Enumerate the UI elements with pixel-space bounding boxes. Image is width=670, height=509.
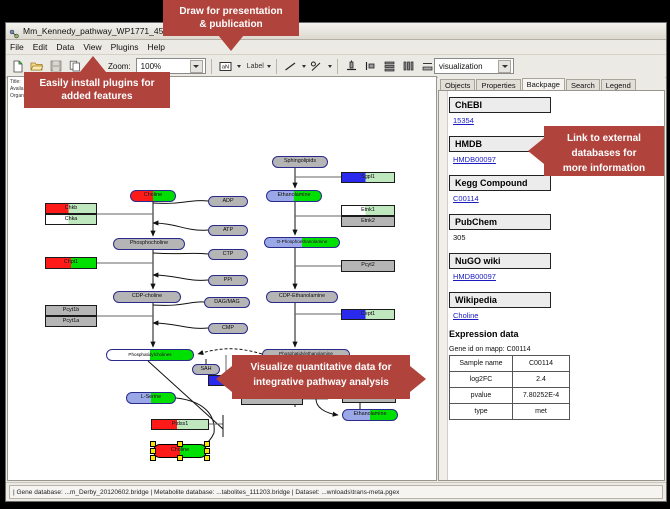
node-label: Sphingolipids	[284, 159, 316, 164]
node-label: Chka	[65, 217, 78, 222]
node-label: CDP-Ethanolamine	[279, 294, 325, 299]
selection-handle[interactable]	[177, 455, 183, 461]
node-label: CMP	[222, 326, 234, 331]
zoom-value: 100%	[141, 62, 161, 71]
toolbar-separator	[211, 59, 212, 74]
menubar: File Edit Data View Plugins Help	[6, 40, 666, 55]
callout-link-line2: databases for	[552, 146, 656, 161]
gene-node-chkb[interactable]: Chkb	[45, 203, 97, 214]
node-label: SAH	[200, 367, 211, 372]
node-label: Phosphocholine	[130, 241, 168, 246]
line-dropdown-icon[interactable]	[302, 65, 306, 68]
metabolite-node-adp[interactable]: ADP	[208, 196, 248, 207]
metabolite-node-choline[interactable]: Choline	[130, 190, 176, 202]
datanode-dropdown-icon[interactable]	[237, 65, 241, 68]
metabolite-node-cdp-choline[interactable]: CDP-choline	[113, 291, 181, 303]
menu-edit[interactable]: Edit	[33, 42, 48, 52]
row-value: met	[513, 404, 570, 420]
callout-plugins-line1: Easily install plugins for	[32, 77, 162, 90]
tab-legend[interactable]: Legend	[601, 79, 636, 91]
node-label: Ptdss1	[172, 422, 188, 427]
metabolite-node-ethanolamine[interactable]: Ethanolamine	[266, 190, 322, 202]
selection-handle[interactable]	[177, 441, 183, 447]
row-key: pvalue	[450, 388, 513, 404]
callout-link-line3: more information	[552, 161, 656, 176]
row-value: 2.4	[513, 372, 570, 388]
row-value: 7.80252E-4	[513, 388, 570, 404]
row-key: type	[450, 404, 513, 420]
node-label: Chpt1	[64, 260, 78, 265]
metabolite-node-atp[interactable]: ATP	[208, 225, 248, 236]
metabolite-node-ethanolamine[interactable]: Ethanolamine	[342, 409, 398, 421]
node-label: PPi	[224, 278, 232, 283]
table-row: log2FC 2.4	[450, 372, 570, 388]
align-top-icon[interactable]	[343, 58, 360, 75]
distribute-icon[interactable]	[400, 58, 417, 75]
metabolite-node-phosphocholine[interactable]: Phosphocholine	[113, 238, 185, 250]
label-dropdown-icon[interactable]	[267, 65, 271, 68]
interaction-icon[interactable]	[308, 58, 325, 75]
node-label: Pcyt2	[361, 263, 374, 268]
menu-data[interactable]: Data	[56, 42, 74, 52]
callout-visualize-line1: Visualize quantitative data for	[240, 360, 402, 375]
chebi-link[interactable]: 15354	[453, 116, 660, 125]
node-label: Ethanolamine	[354, 412, 387, 417]
selection-handle[interactable]	[204, 441, 210, 447]
backpage-scrollbar[interactable]	[439, 91, 448, 480]
datanode-icon[interactable]: aN	[217, 58, 234, 75]
nugowiki-link[interactable]: HMDB00097	[453, 272, 660, 281]
metabolite-node-ctp[interactable]: CTP	[208, 249, 248, 260]
gene-id-line: Gene id on mapp: C00114	[449, 346, 660, 353]
label-tool-label[interactable]: Label	[247, 63, 264, 70]
gene-node-pcyt1b[interactable]: Pcyt1b	[45, 305, 97, 316]
callout-visualize-arrow-right-icon	[410, 366, 426, 392]
node-label: Sgpl1	[361, 175, 375, 180]
kegg-link[interactable]: C00114	[453, 194, 660, 203]
table-row: pvalue 7.80252E-4	[450, 388, 570, 404]
gene-node-chka[interactable]: Chka	[45, 214, 97, 225]
node-label: Choline	[171, 448, 189, 453]
selection-handle[interactable]	[150, 448, 156, 454]
metabolite-node-phosphatidylcholines[interactable]: Phosphatidylcholines	[106, 349, 194, 361]
tab-objects[interactable]: Objects	[440, 79, 475, 91]
menu-view[interactable]: View	[83, 42, 101, 52]
node-label: DAG/MAG	[214, 300, 239, 305]
node-label: Phosphatidylcholines	[128, 353, 171, 358]
tab-properties[interactable]: Properties	[476, 79, 520, 91]
callout-plugins-arrow-icon	[80, 56, 106, 72]
metabolite-node-l-serine[interactable]: L-Serine	[126, 392, 176, 404]
interaction-dropdown-icon[interactable]	[328, 65, 332, 68]
callout-link: Link to external databases for more info…	[544, 126, 664, 176]
node-label: ATP	[223, 228, 233, 233]
screenshot-root: Mm_Kennedy_pathway_WP1771_45176.gpml Fil…	[0, 0, 670, 509]
callout-visualize-arrow-left-icon	[216, 366, 232, 392]
node-label: L-Serine	[141, 395, 161, 400]
visualization-combo[interactable]: visualization	[434, 58, 514, 74]
stack-vertical-icon[interactable]	[381, 58, 398, 75]
gene-node-pcyt2[interactable]: Pcyt2	[341, 260, 395, 272]
metabolite-node-cmp[interactable]: CMP	[208, 323, 248, 334]
metabolite-node-ppi[interactable]: PPi	[208, 275, 248, 286]
callout-link-arrow-icon	[528, 138, 544, 164]
node-label: Etnk1	[361, 208, 375, 213]
side-panel-tabs: Objects Properties Backpage Search Legen…	[438, 76, 665, 90]
menu-plugins[interactable]: Plugins	[111, 42, 139, 52]
toolbar-separator-3	[337, 59, 338, 74]
nugowiki-header: NuGO wiki	[449, 253, 551, 269]
node-label: O-Phosphoethanolamine	[277, 240, 328, 245]
align-left-icon[interactable]	[362, 58, 379, 75]
pubchem-header: PubChem	[449, 214, 551, 230]
node-label: Pcyt1a	[63, 319, 79, 324]
wikipedia-header: Wikipedia	[449, 292, 551, 308]
tab-backpage[interactable]: Backpage	[522, 78, 565, 91]
wikipedia-link[interactable]: Choline	[453, 311, 660, 320]
node-label: CTP	[223, 252, 234, 257]
pathvisio-app-icon	[9, 26, 19, 36]
node-label: Etnk2	[361, 219, 375, 224]
gene-node-cept1[interactable]: Cept1	[341, 309, 395, 320]
callout-plugins-line2: added features	[32, 90, 162, 103]
table-row: type met	[450, 404, 570, 420]
row-key: Sample name	[450, 356, 513, 372]
gene-node-sgpl1[interactable]: Sgpl1	[341, 172, 395, 183]
tab-search[interactable]: Search	[566, 79, 600, 91]
table-row: Sample name C00114	[450, 356, 570, 372]
kegg-header: Kegg Compound	[449, 175, 551, 191]
node-label: CDP-choline	[132, 294, 162, 299]
window-titlebar: Mm_Kennedy_pathway_WP1771_45176.gpml	[6, 23, 666, 40]
callout-plugins: Easily install plugins for added feature…	[24, 72, 170, 108]
node-label: Choline	[144, 193, 162, 198]
callout-link-line1: Link to external	[552, 131, 656, 146]
status-bar: | Gene database: ...m_Derby_20120602.bri…	[6, 482, 666, 501]
line-icon[interactable]	[282, 58, 299, 75]
pubchem-value: 305	[453, 233, 660, 242]
expression-data-title: Expression data	[449, 329, 660, 339]
selection-handle[interactable]	[204, 448, 210, 454]
gene-node-etnk2[interactable]: Etnk2	[341, 216, 395, 227]
node-label: ADP	[222, 199, 233, 204]
metabolite-node-dag-mag[interactable]: DAG/MAG	[204, 297, 250, 308]
callout-visualize-line2: integrative pathway analysis	[240, 375, 402, 390]
callout-draw-line2: & publication	[171, 18, 291, 31]
callout-draw-line1: Draw for presentation	[171, 5, 291, 18]
gene-node-pcyt1a[interactable]: Pcyt1a	[45, 316, 97, 327]
gene-node-etnk1[interactable]: Etnk1	[341, 205, 395, 216]
metabolite-node-cdp-ethanolamine[interactable]: CDP-Ethanolamine	[266, 291, 338, 303]
node-label: Ethanolamine	[278, 193, 311, 198]
pathway-canvas[interactable]: Title: Availa Organi	[7, 76, 437, 481]
selection-handle[interactable]	[150, 441, 156, 447]
visualization-value: visualization	[439, 62, 483, 71]
node-label: Chkb	[65, 206, 78, 211]
menu-help[interactable]: Help	[148, 42, 165, 52]
zoom-label: Zoom:	[108, 62, 131, 71]
menu-file[interactable]: File	[10, 42, 24, 52]
gene-node-chpt1[interactable]: Chpt1	[45, 257, 97, 269]
callout-visualize: Visualize quantitative data for integrat…	[232, 355, 410, 399]
metabolite-node-sphingolipids[interactable]: Sphingolipids	[272, 156, 328, 168]
chebi-header: ChEBI	[449, 97, 551, 113]
visualization-chevron-down-icon[interactable]	[498, 60, 511, 73]
selection-handle[interactable]	[204, 455, 210, 461]
node-label: Cept1	[361, 312, 375, 317]
chevron-down-icon[interactable]	[190, 60, 203, 73]
expression-table: Sample name C00114 log2FC 2.4 pvalue 7.8…	[449, 355, 570, 420]
row-value: C00114	[513, 356, 570, 372]
row-key: log2FC	[450, 372, 513, 388]
gene-node-ptdss1[interactable]: Ptdss1	[151, 419, 209, 430]
toolbar-separator-2	[276, 59, 277, 74]
callout-draw-arrow-icon	[218, 35, 244, 51]
selection-handle[interactable]	[150, 455, 156, 461]
svg-text:aN: aN	[222, 64, 229, 70]
node-label: Pcyt1b	[63, 308, 79, 313]
metabolite-node-o-phosphoethanolamine[interactable]: O-Phosphoethanolamine	[264, 237, 340, 248]
status-bar-text: | Gene database: ...m_Derby_20120602.bri…	[9, 485, 663, 499]
callout-draw: Draw for presentation & publication	[163, 0, 299, 36]
